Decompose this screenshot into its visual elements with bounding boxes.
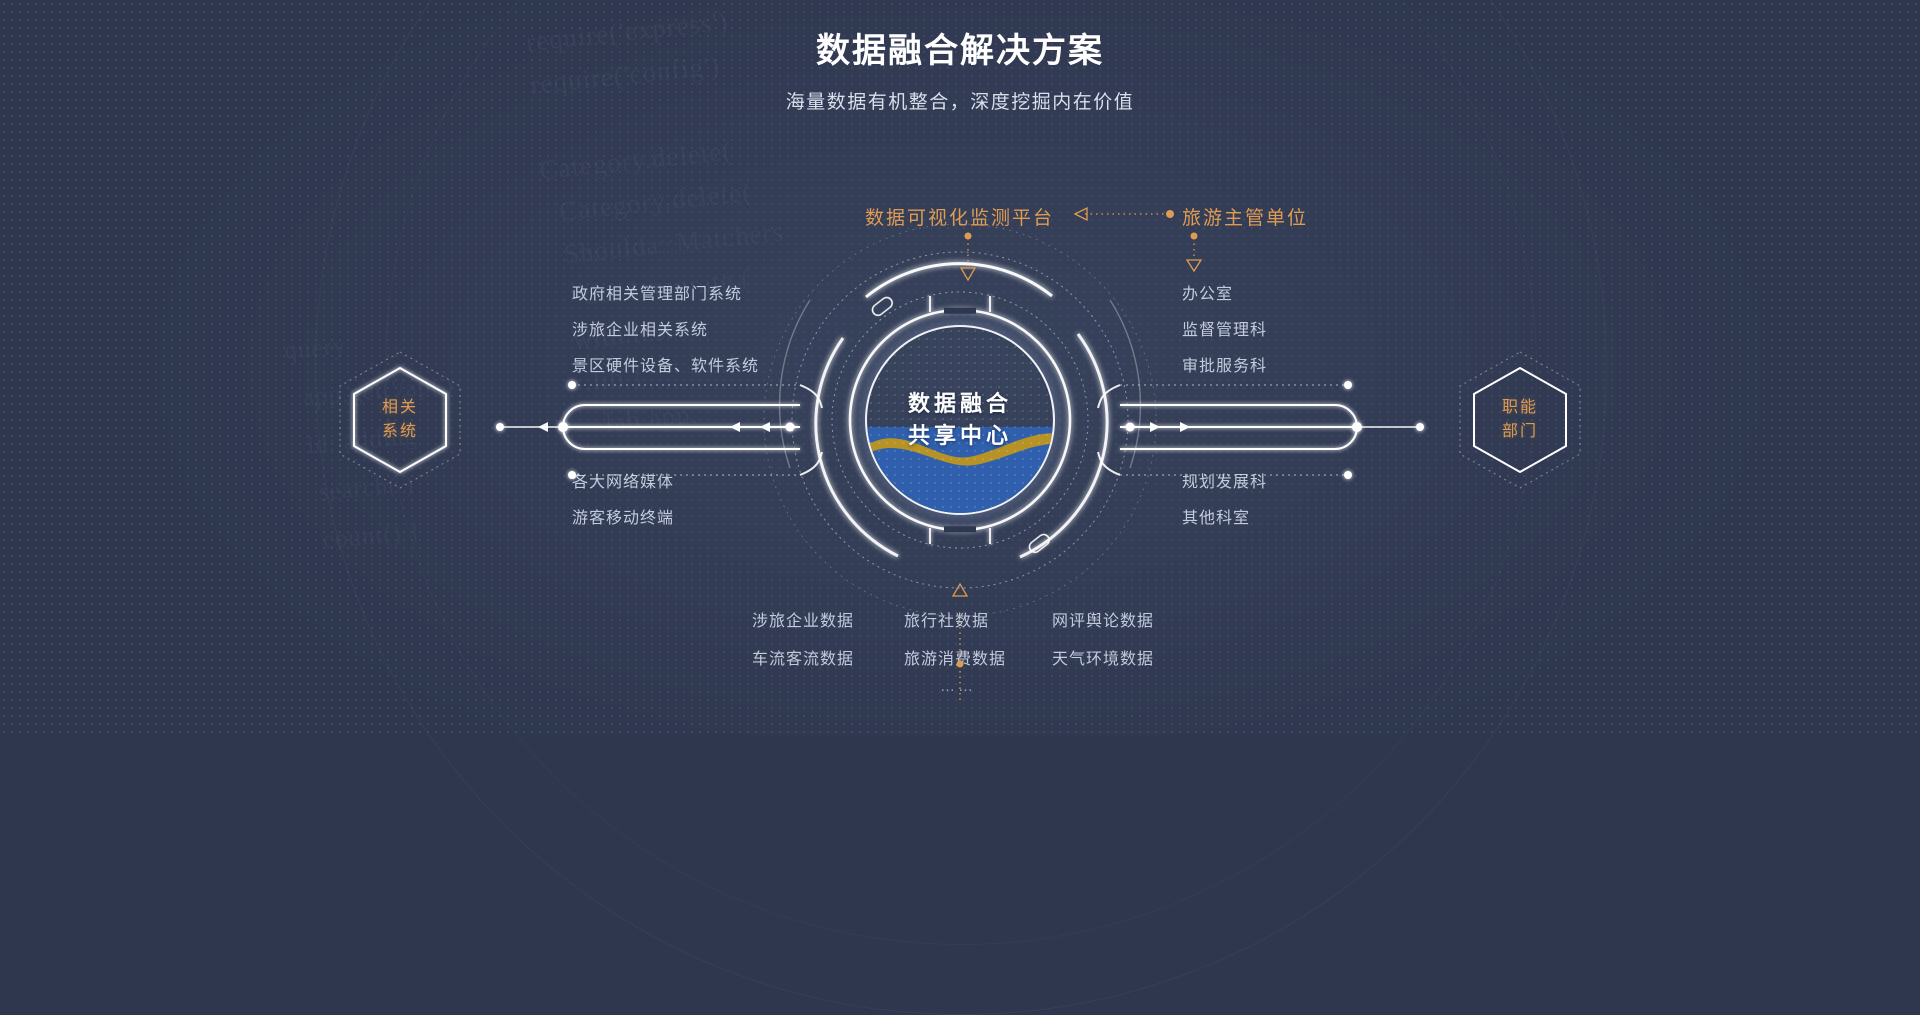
header: 数据融合解决方案 海量数据有机整合，深度挖掘内在价值 <box>0 30 1920 114</box>
page-subtitle: 海量数据有机整合，深度挖掘内在价值 <box>0 87 1920 114</box>
page-title: 数据融合解决方案 <box>0 30 1920 73</box>
